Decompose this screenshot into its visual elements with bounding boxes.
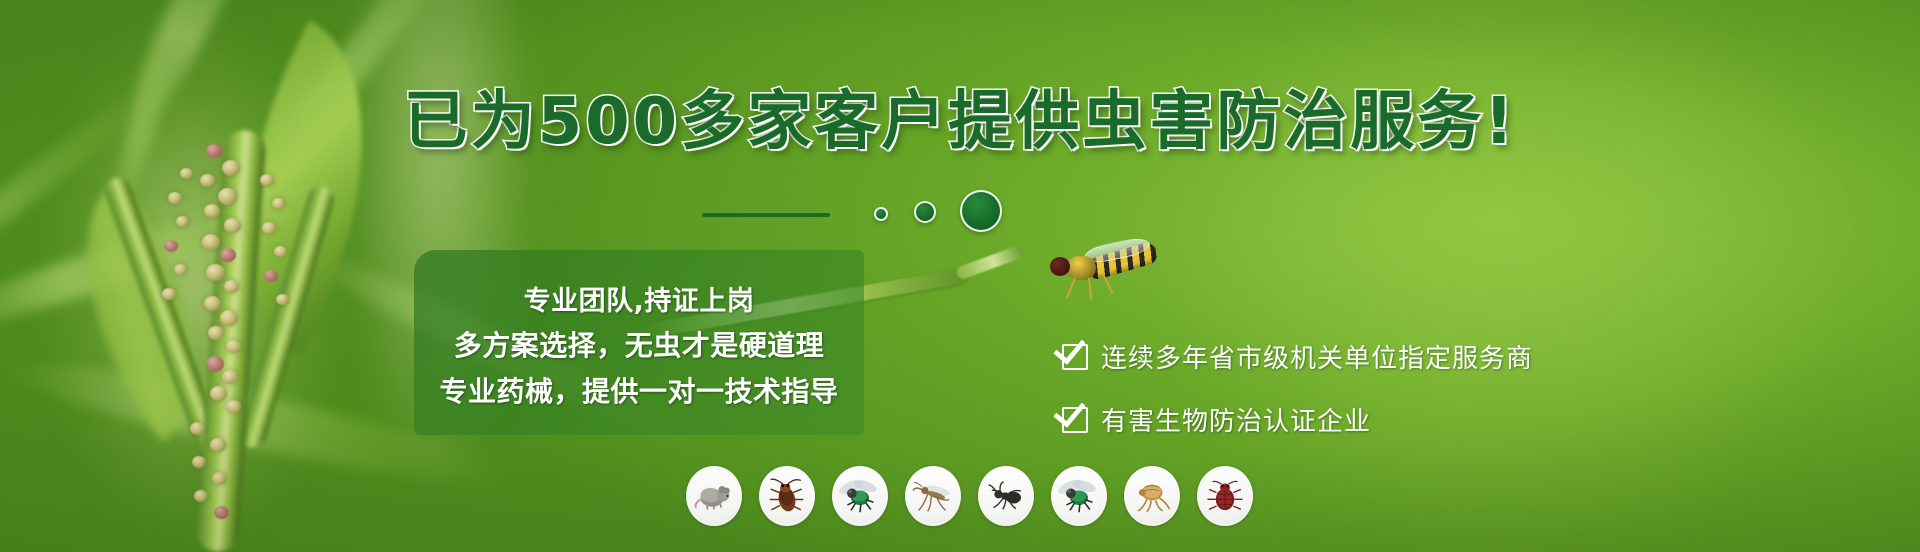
- aphid: [164, 240, 178, 252]
- aphid: [162, 288, 176, 300]
- credentials-checklist: 连续多年省市级机关单位指定服务商 有害生物防治认证企业: [1062, 338, 1533, 464]
- aphid: [210, 386, 227, 401]
- pest-icon-strip: [686, 466, 1253, 526]
- decorative-dot-medium: [914, 201, 936, 223]
- hoverfly-leg: [1102, 274, 1113, 295]
- aphid: [260, 174, 274, 186]
- ant-icon[interactable]: [978, 466, 1034, 526]
- aphid: [262, 222, 276, 234]
- decorative-rule: [702, 213, 830, 217]
- check-box-icon: [1062, 344, 1088, 370]
- checklist-item: 连续多年省市级机关单位指定服务商: [1062, 338, 1533, 375]
- aphid: [192, 456, 206, 468]
- aphid: [194, 490, 208, 502]
- aphid: [204, 296, 221, 311]
- checklist-item-label: 有害生物防治认证企业: [1101, 401, 1371, 438]
- feature-line-3: 专业药械，提供一对一技术指导: [439, 370, 838, 410]
- aphid: [220, 310, 238, 326]
- decorative-dot-large: [960, 190, 1002, 232]
- aphid: [226, 400, 241, 413]
- checklist-item: 有害生物防治认证企业: [1062, 401, 1533, 438]
- mosquito-icon[interactable]: [905, 466, 961, 526]
- rat-icon[interactable]: [686, 466, 742, 526]
- aphid: [222, 370, 238, 384]
- aphid: [222, 160, 240, 176]
- feature-line-1: 专业团队,持证上岗: [524, 279, 755, 318]
- aphid: [210, 438, 226, 452]
- checklist-item-label: 连续多年省市级机关单位指定服务商: [1101, 338, 1533, 375]
- aphid: [190, 422, 205, 435]
- bedbug-icon[interactable]: [1197, 466, 1253, 526]
- aphid: [180, 168, 193, 179]
- cockroach-icon[interactable]: [759, 466, 815, 526]
- aphid: [220, 248, 236, 262]
- hoverfly-leg: [1066, 278, 1076, 299]
- hoverfly-thorax: [1066, 256, 1096, 280]
- aphid: [206, 356, 224, 372]
- aphid: [224, 218, 241, 233]
- flea-icon[interactable]: [1124, 466, 1180, 526]
- aphid: [176, 216, 189, 227]
- hoverfly-head: [1050, 257, 1070, 276]
- check-box-icon: [1062, 407, 1088, 433]
- aphid: [174, 264, 187, 275]
- aphid: [224, 280, 239, 293]
- aphid: [264, 270, 278, 282]
- decorative-dot-small: [874, 207, 888, 221]
- feature-panel: 专业团队,持证上岗 多方案选择，无虫才是硬道理 专业药械，提供一对一技术指导: [414, 250, 864, 435]
- aphid: [218, 188, 237, 205]
- hoverfly-insect: [1040, 240, 1160, 296]
- aphid: [204, 204, 220, 218]
- fly-icon[interactable]: [832, 466, 888, 526]
- aphid: [272, 198, 285, 209]
- aphid: [202, 234, 220, 250]
- banner-headline: 已为500多家客户提供虫害防治服务!: [0, 70, 1920, 162]
- aphid: [206, 264, 225, 281]
- promo-banner: 已为500多家客户提供虫害防治服务! 专业团队,持证上岗 多方案选择，无虫才是硬…: [0, 0, 1920, 552]
- aphid: [274, 246, 287, 257]
- feature-panel-lines: 专业团队,持证上岗 多方案选择，无虫才是硬道理 专业药械，提供一对一技术指导: [414, 250, 864, 435]
- fly-icon-2[interactable]: [1051, 466, 1107, 526]
- aphid: [200, 174, 215, 187]
- aphid: [168, 192, 182, 204]
- aphid: [212, 472, 227, 485]
- aphid: [214, 506, 229, 519]
- aphid: [208, 326, 224, 340]
- feature-line-2: 多方案选择，无虫才是硬道理: [454, 324, 825, 364]
- aphid-stem-cluster: [60, 130, 440, 552]
- aphid: [276, 294, 289, 305]
- aphid: [226, 340, 241, 353]
